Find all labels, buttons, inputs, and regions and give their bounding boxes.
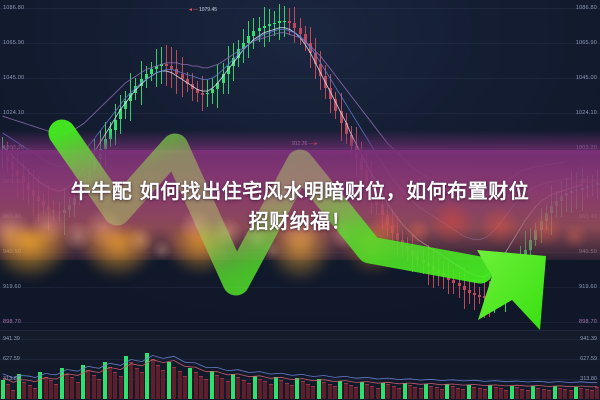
headline-line-1: 牛牛配 如何找出住宅风水明暗财位，如何布置财位 <box>0 178 600 204</box>
arrow-head <box>477 250 546 330</box>
headline-line-2: 招财纳福！ <box>0 208 600 234</box>
promo-banner: 1086.801065.901045.001024.101003.20982.3… <box>0 0 600 400</box>
